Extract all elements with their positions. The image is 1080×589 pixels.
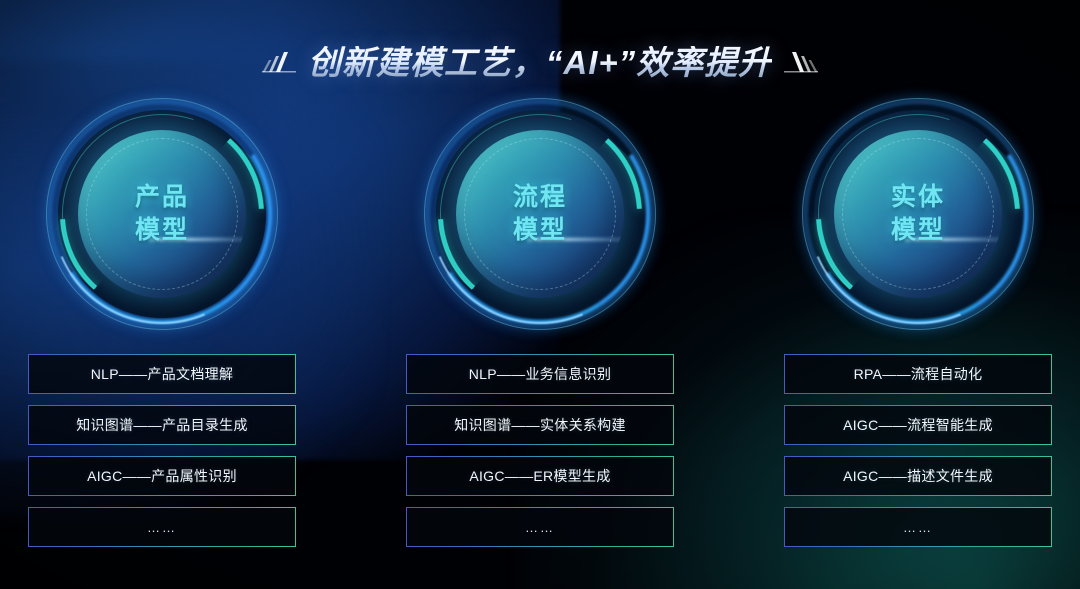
item-label: …… bbox=[903, 520, 933, 535]
item-list-entity-model: RPA——流程自动化 AIGC——流程智能生成 AIGC——描述文件生成 …… bbox=[784, 354, 1052, 547]
orb-label-line1: 实体 bbox=[891, 183, 945, 211]
orb-label-line2: 模型 bbox=[135, 214, 189, 247]
item-box-ellipsis[interactable]: …… bbox=[28, 507, 296, 547]
slide-root: 创新建模工艺，“AI+”效率提升 bbox=[0, 0, 1080, 589]
item-list-product-model: NLP——产品文档理解 知识图谱——产品目录生成 AIGC——产品属性识别 …… bbox=[28, 354, 296, 547]
item-box[interactable]: AIGC——流程智能生成 bbox=[784, 405, 1052, 445]
item-box[interactable]: NLP——业务信息识别 bbox=[406, 354, 674, 394]
item-label: …… bbox=[525, 520, 555, 535]
item-box[interactable]: 知识图谱——产品目录生成 bbox=[28, 405, 296, 445]
page-title: 创新建模工艺，“AI+”效率提升 bbox=[308, 46, 772, 79]
orb-label-line1: 产品 bbox=[135, 183, 189, 211]
item-box[interactable]: AIGC——产品属性识别 bbox=[28, 456, 296, 496]
item-label: AIGC——流程智能生成 bbox=[843, 415, 993, 435]
slash-marks-left-icon bbox=[254, 50, 298, 74]
item-label: AIGC——ER模型生成 bbox=[469, 466, 610, 486]
item-label: AIGC——产品属性识别 bbox=[87, 466, 237, 486]
column-entity-model: 实体 模型 RPA——流程自动化 AIGC——流程智能生成 AIGC——描述文件… bbox=[784, 98, 1052, 547]
item-label: 知识图谱——产品目录生成 bbox=[76, 415, 248, 435]
slide-title-row: 创新建模工艺，“AI+”效率提升 bbox=[0, 34, 1080, 90]
item-box[interactable]: RPA——流程自动化 bbox=[784, 354, 1052, 394]
item-label: NLP——产品文档理解 bbox=[91, 364, 234, 384]
item-label: RPA——流程自动化 bbox=[854, 364, 983, 384]
item-list-process-model: NLP——业务信息识别 知识图谱——实体关系构建 AIGC——ER模型生成 …… bbox=[406, 354, 674, 547]
slash-marks-right-icon bbox=[782, 50, 826, 74]
item-label: 知识图谱——实体关系构建 bbox=[454, 415, 626, 435]
orb-inner-disc: 实体 模型 bbox=[834, 130, 1002, 298]
column-product-model: 产品 模型 NLP——产品文档理解 知识图谱——产品目录生成 AIGC——产品属… bbox=[28, 98, 296, 547]
model-columns: 产品 模型 NLP——产品文档理解 知识图谱——产品目录生成 AIGC——产品属… bbox=[0, 98, 1080, 547]
orb-inner-disc: 流程 模型 bbox=[456, 130, 624, 298]
item-box-ellipsis[interactable]: …… bbox=[784, 507, 1052, 547]
orb-label-entity-model: 实体 模型 bbox=[891, 181, 945, 247]
orb-label-line2: 模型 bbox=[891, 214, 945, 247]
item-label: AIGC——描述文件生成 bbox=[843, 466, 993, 486]
item-label: NLP——业务信息识别 bbox=[469, 364, 612, 384]
orb-label-line1: 流程 bbox=[513, 183, 567, 211]
item-box[interactable]: AIGC——ER模型生成 bbox=[406, 456, 674, 496]
item-box[interactable]: 知识图谱——实体关系构建 bbox=[406, 405, 674, 445]
item-box[interactable]: AIGC——描述文件生成 bbox=[784, 456, 1052, 496]
orb-entity-model[interactable]: 实体 模型 bbox=[802, 98, 1034, 330]
orb-label-product-model: 产品 模型 bbox=[135, 181, 189, 247]
item-box-ellipsis[interactable]: …… bbox=[406, 507, 674, 547]
orb-label-line2: 模型 bbox=[513, 214, 567, 247]
orb-process-model[interactable]: 流程 模型 bbox=[424, 98, 656, 330]
orb-label-process-model: 流程 模型 bbox=[513, 181, 567, 247]
orb-product-model[interactable]: 产品 模型 bbox=[46, 98, 278, 330]
orb-inner-disc: 产品 模型 bbox=[78, 130, 246, 298]
item-box[interactable]: NLP——产品文档理解 bbox=[28, 354, 296, 394]
item-label: …… bbox=[147, 520, 177, 535]
column-process-model: 流程 模型 NLP——业务信息识别 知识图谱——实体关系构建 AIGC——ER模… bbox=[406, 98, 674, 547]
